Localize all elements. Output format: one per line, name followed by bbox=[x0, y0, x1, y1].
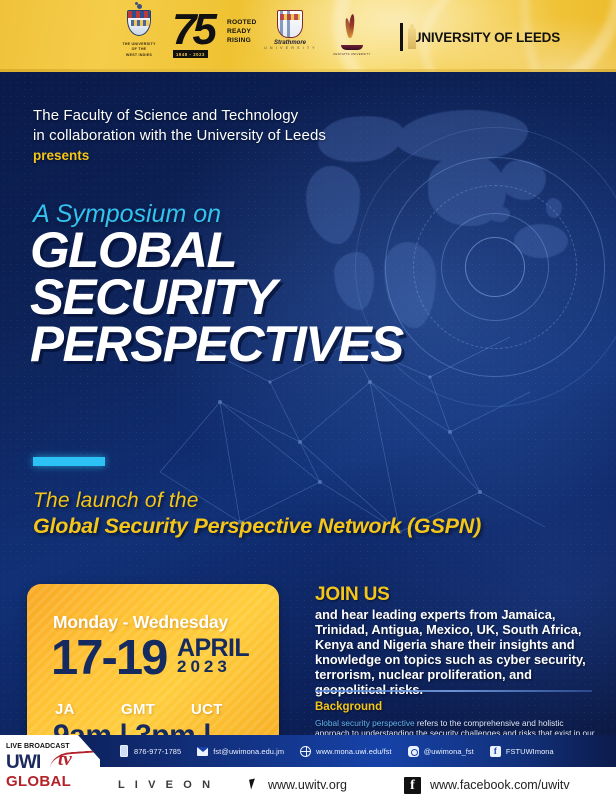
contact-email[interactable]: fst@uwimona.edu.jm bbox=[197, 746, 284, 757]
facebook-icon: f bbox=[490, 746, 501, 757]
envelope-icon bbox=[197, 746, 208, 757]
contact-facebook-text: FSTUWImona bbox=[506, 747, 554, 756]
uwitv-global-logo: LIVE BROADCAST UWI tv GLOBAL bbox=[0, 735, 100, 803]
contact-phone[interactable]: 876-977-1785 bbox=[118, 746, 181, 757]
strathmore-university-logo: Strathmore U N I V E R S I T Y bbox=[262, 10, 318, 64]
anniversary-number: 75 bbox=[172, 10, 213, 50]
live-on-label: L I V E O N bbox=[118, 767, 214, 803]
globe-icon bbox=[300, 746, 311, 757]
uwitv-swoosh bbox=[50, 750, 95, 767]
intro-line-1: The Faculty of Science and Technology bbox=[33, 106, 453, 126]
join-us-heading: JOIN US bbox=[315, 584, 600, 606]
anniversary-tagline: ROOTED READY RISING bbox=[227, 18, 256, 45]
uwitv-uwi-word: UWI bbox=[6, 752, 41, 774]
launch-text: The launch of the Global Security Perspe… bbox=[33, 488, 481, 540]
contact-website[interactable]: www.mona.uwi.edu/fst bbox=[300, 746, 392, 757]
contact-phone-text: 876-977-1785 bbox=[134, 747, 181, 756]
contact-items: 876-977-1785 fst@uwimona.edu.jm www.mona… bbox=[118, 735, 554, 767]
event-year: 2023 bbox=[177, 658, 231, 676]
join-us-body: and hear leading experts from Jamaica, T… bbox=[315, 607, 600, 698]
contact-email-text: fst@uwimona.edu.jm bbox=[213, 747, 284, 756]
intro-presents: presents bbox=[33, 148, 453, 163]
leeds-wordmark: UNIVERSITY OF LEEDS bbox=[412, 30, 560, 45]
event-dates: 17-19 bbox=[51, 632, 166, 684]
cyan-accent-bar bbox=[33, 457, 105, 466]
timezone-uct: UCT bbox=[191, 701, 223, 718]
phone-icon bbox=[118, 746, 129, 757]
event-days: Monday - Wednesday bbox=[53, 612, 228, 633]
timezone-labels: JA GMT UCT bbox=[55, 701, 255, 718]
uwi-crest-logo: THE UNIVERSITY OF THE WEST INDIES bbox=[108, 4, 170, 68]
event-times: 9am | 3pm | 4pm bbox=[53, 719, 279, 735]
strathmore-crest-icon bbox=[277, 10, 303, 38]
footer-facebook[interactable]: f www.facebook.com/uwitv bbox=[404, 767, 570, 803]
background-body: Global security perspective refers to th… bbox=[315, 718, 600, 735]
footer-facebook-text: www.facebook.com/uwitv bbox=[430, 778, 570, 792]
strathmore-subtitle: U N I V E R S I T Y bbox=[262, 46, 318, 50]
page-title: GLOBAL SECURITY PERSPECTIVES bbox=[30, 227, 395, 368]
timezone-ja: JA bbox=[55, 701, 121, 718]
date-box: Monday - Wednesday 17-19 APRIL 2023 JA G… bbox=[27, 584, 279, 735]
poster-body: The Faculty of Science and Technology in… bbox=[0, 72, 616, 735]
logo-row: THE UNIVERSITY OF THE WEST INDIES 75 194… bbox=[0, 0, 616, 72]
event-poster: THE UNIVERSITY OF THE WEST INDIES 75 194… bbox=[0, 0, 616, 803]
title-line-2: SECURITY bbox=[30, 274, 403, 321]
flame-icon bbox=[345, 14, 359, 44]
footer-website-text: www.uwitv.org bbox=[268, 778, 347, 792]
launch-line-1: The launch of the bbox=[33, 488, 481, 513]
leeds-tower-icon bbox=[400, 23, 403, 51]
uwitv-global-word: GLOBAL bbox=[6, 773, 71, 790]
section-divider bbox=[315, 690, 592, 692]
flame-crest-logo: KENYATTA UNIVERSITY bbox=[330, 14, 374, 62]
anniversary-years: 1948 - 2023 bbox=[173, 50, 208, 58]
uwitv-tv-word: tv bbox=[58, 749, 72, 771]
flame-logo-caption: KENYATTA UNIVERSITY bbox=[330, 52, 374, 56]
contact-facebook[interactable]: f FSTUWImona bbox=[490, 746, 554, 757]
uwi-crest-caption: THE UNIVERSITY OF THE WEST INDIES bbox=[122, 42, 155, 58]
cursor-icon bbox=[250, 779, 260, 792]
intro-line-2: in collaboration with the University of … bbox=[33, 126, 453, 146]
uwi-crest-icon bbox=[124, 4, 154, 40]
background-highlight: Global security perspective bbox=[315, 718, 415, 728]
facebook-icon: f bbox=[404, 777, 421, 794]
intro-text: The Faculty of Science and Technology in… bbox=[33, 106, 453, 163]
university-of-leeds-logo: UNIVERSITY OF LEEDS bbox=[400, 16, 560, 58]
title-line-1: GLOBAL bbox=[30, 227, 403, 274]
launch-line-2: Global Security Perspective Network (GSP… bbox=[33, 513, 481, 540]
contact-instagram-text: @uwimona_fst bbox=[424, 747, 474, 756]
instagram-icon bbox=[408, 746, 419, 757]
contact-website-text: www.mona.uwi.edu/fst bbox=[316, 747, 392, 756]
join-us-section: JOIN US and hear leading experts from Ja… bbox=[315, 584, 600, 698]
footer-website[interactable]: www.uwitv.org bbox=[250, 767, 347, 803]
title-line-3: PERSPECTIVES bbox=[30, 321, 403, 368]
timezone-gmt: GMT bbox=[121, 701, 191, 718]
sponsor-logo-bar: THE UNIVERSITY OF THE WEST INDIES 75 194… bbox=[0, 0, 616, 72]
background-heading: Background bbox=[315, 701, 382, 713]
contact-instagram[interactable]: @uwimona_fst bbox=[408, 746, 474, 757]
